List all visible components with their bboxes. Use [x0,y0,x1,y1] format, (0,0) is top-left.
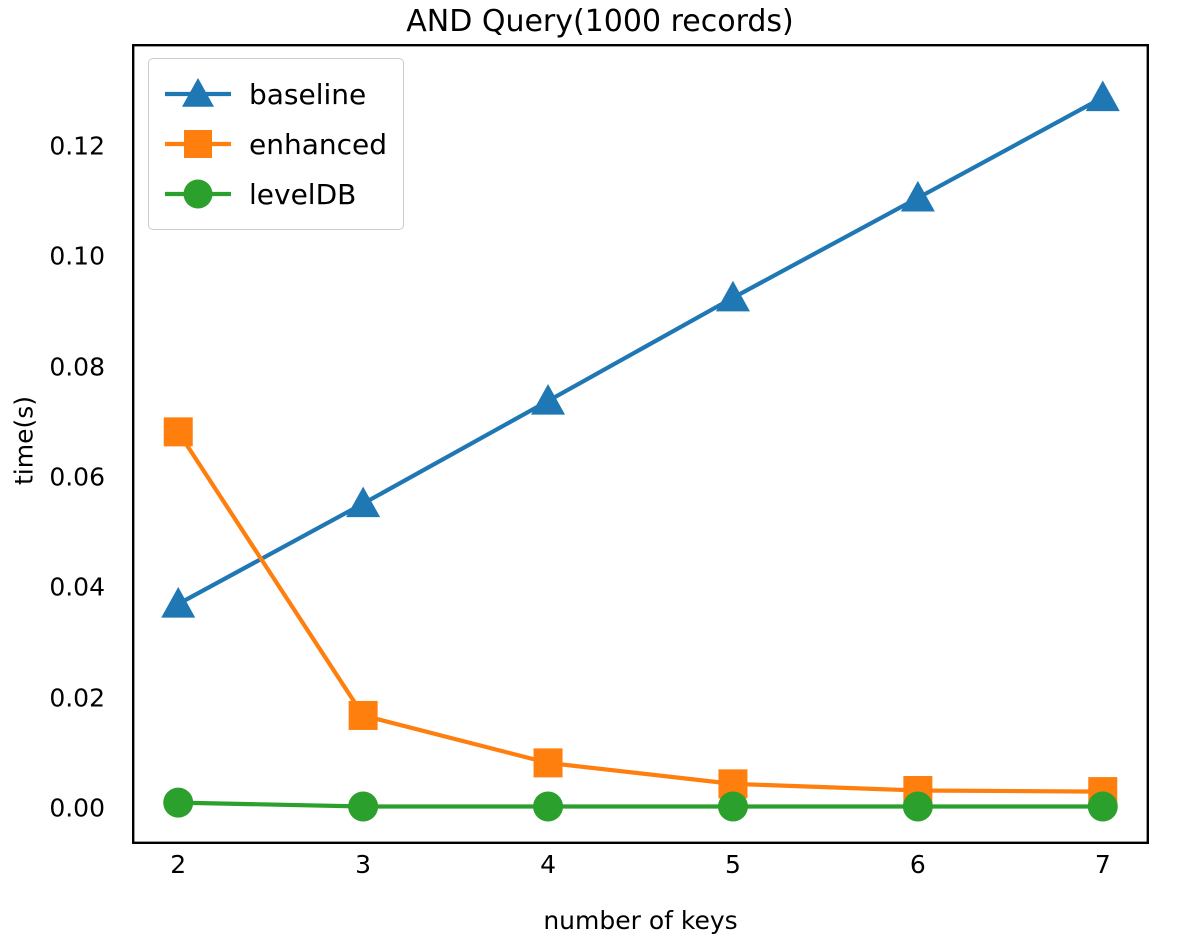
y-tick-label: 0.06 [0,463,119,492]
legend-entry-levelDB[interactable]: levelDB [161,169,387,219]
x-axis-label: number of keys [132,906,1149,935]
legend-label-baseline: baseline [249,78,366,111]
chart-title: AND Query(1000 records) [0,4,1200,39]
marker-circle-levelDB [903,791,933,821]
marker-circle-levelDB [163,788,193,818]
marker-triangle-baseline [346,487,380,518]
y-tick-label: 0.04 [0,573,119,602]
marker-triangle-baseline [161,587,195,618]
plot-area: time(s) 0.000.020.040.060.080.100.12 234… [132,44,1149,844]
chart-figure: AND Query(1000 records) time(s) 0.000.02… [0,0,1200,937]
y-tick-label: 0.10 [0,242,119,271]
chart-legend: baselineenhancedlevelDB [148,58,404,230]
legend-label-enhanced: enhanced [249,128,387,161]
marker-square-enhanced [534,748,563,777]
y-tick-label: 0.00 [0,794,119,823]
marker-triangle-baseline [531,384,565,415]
x-tick-label: 4 [508,850,588,879]
marker-triangle-baseline [901,181,935,212]
x-tick-label: 7 [1063,850,1143,879]
series-line-enhanced [178,432,1103,792]
legend-entry-enhanced[interactable]: enhanced [161,119,387,169]
marker-square-enhanced [349,701,378,730]
x-tick-label: 6 [878,850,958,879]
legend-swatch-levelDB [161,174,235,214]
legend-marker-circle [184,180,213,209]
legend-marker-square [184,130,212,158]
legend-entry-baseline[interactable]: baseline [161,69,387,119]
marker-circle-levelDB [1088,791,1118,821]
series-line-levelDB [178,803,1103,807]
marker-triangle-baseline [716,281,750,312]
x-tick-label: 2 [138,850,218,879]
marker-circle-levelDB [348,791,378,821]
marker-triangle-baseline [1086,81,1120,112]
legend-swatch-baseline [161,74,235,114]
marker-circle-levelDB [533,791,563,821]
legend-label-levelDB: levelDB [249,178,356,211]
y-tick-label: 0.02 [0,683,119,712]
y-tick-label: 0.08 [0,352,119,381]
x-tick-label: 3 [323,850,403,879]
legend-swatch-enhanced [161,124,235,164]
y-tick-label: 0.12 [0,132,119,161]
x-tick-label: 5 [693,850,773,879]
marker-square-enhanced [164,417,193,446]
marker-circle-levelDB [718,791,748,821]
